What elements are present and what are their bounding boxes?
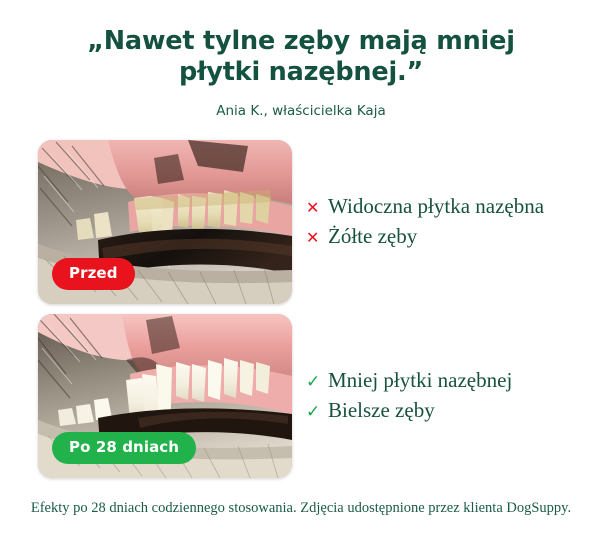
testimonial-card: „Nawet tylne zęby mają mniej płytki nazę… bbox=[0, 0, 602, 550]
bullets-before: ✕ Widoczna płytka nazębna ✕ Żółte zęby bbox=[306, 193, 544, 251]
page-title: „Nawet tylne zęby mają mniej płytki nazę… bbox=[86, 26, 516, 88]
cross-icon: ✕ bbox=[306, 195, 328, 221]
bullet-label: Bielsze zęby bbox=[328, 397, 435, 423]
photo-after: Po 28 dniach bbox=[38, 314, 292, 478]
bullet-item: ✕ Żółte zęby bbox=[306, 223, 544, 251]
bullet-item: ✕ Widoczna płytka nazębna bbox=[306, 193, 544, 221]
bullet-item: ✓ Bielsze zęby bbox=[306, 397, 512, 425]
bullets-after: ✓ Mniej płytki nazębnej ✓ Bielsze zęby bbox=[306, 367, 512, 425]
check-icon: ✓ bbox=[306, 399, 328, 425]
footer-line-1: Efekty po 28 dniach codziennego stosowan… bbox=[31, 500, 503, 516]
check-icon: ✓ bbox=[306, 369, 328, 395]
photo-before: Przed bbox=[38, 140, 292, 304]
comparison-row-before: Przed ✕ Widoczna płytka nazębna ✕ Żółte … bbox=[38, 140, 544, 304]
quote-line-2: płytki nazębnej.” bbox=[86, 57, 516, 88]
quote-author: Ania K., właścicielka Kaja bbox=[0, 102, 602, 120]
comparison-row-after: Po 28 dniach ✓ Mniej płytki nazębnej ✓ B… bbox=[38, 314, 512, 478]
badge-after: Po 28 dniach bbox=[52, 432, 196, 464]
header: „Nawet tylne zęby mają mniej płytki nazę… bbox=[0, 0, 602, 120]
footer-line-2: DogSuppy. bbox=[506, 500, 571, 516]
badge-before: Przed bbox=[52, 258, 135, 290]
bullet-item: ✓ Mniej płytki nazębnej bbox=[306, 367, 512, 395]
quote-line-1: „Nawet tylne zęby mają mniej bbox=[87, 26, 515, 56]
bullet-label: Widoczna płytka nazębna bbox=[328, 193, 544, 219]
bullet-label: Żółte zęby bbox=[328, 223, 417, 249]
cross-icon: ✕ bbox=[306, 225, 328, 251]
bullet-label: Mniej płytki nazębnej bbox=[328, 367, 512, 393]
footer-disclaimer: Efekty po 28 dniach codziennego stosowan… bbox=[0, 498, 602, 519]
